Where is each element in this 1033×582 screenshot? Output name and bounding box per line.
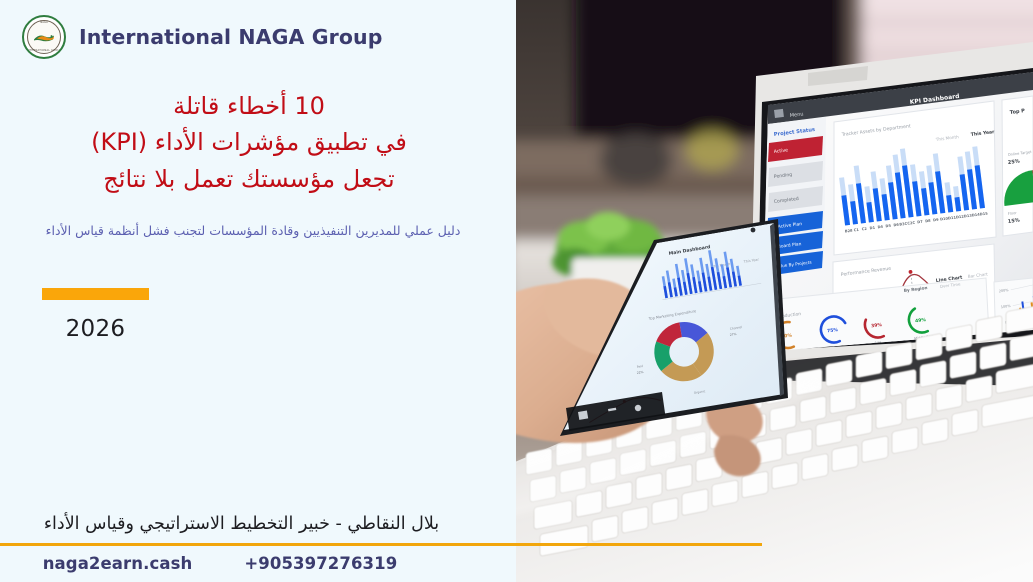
author-line: بلال النقاطي - خبير التخطيط الاستراتيجي … [0, 514, 483, 534]
svg-text:D5: D5 [885, 224, 891, 229]
year-label: 2026 [42, 316, 149, 342]
website-label[interactable]: naga2earn.cash [43, 554, 193, 573]
svg-text:D8: D8 [925, 219, 931, 224]
headline-line-2: في تطبيق مؤشرات الأداء (KPI) [0, 124, 498, 160]
headline-block: 10 أخطاء قاتلة في تطبيق مؤشرات الأداء (K… [0, 88, 498, 197]
footer-divider-rule [0, 543, 762, 546]
phone-label[interactable]: +905397276319 [244, 554, 397, 573]
svg-text:D7: D7 [917, 220, 923, 225]
subtitle-text: دليل عملي للمديرين التنفيذيين وقادة المؤ… [0, 222, 506, 240]
slide-canvas: NAGA INTERNATIONAL GROUP International N… [0, 0, 1033, 582]
svg-text:D4: D4 [877, 225, 883, 230]
svg-text:C2: C2 [861, 227, 867, 232]
hero-photo: Menu KPI Dashboard Project Status Active… [516, 0, 1033, 582]
svg-text:D1: D1 [869, 226, 875, 231]
brand-name-label: International NAGA Group [79, 25, 383, 49]
svg-text:C1: C1 [854, 228, 860, 233]
headline-line-1: 10 أخطاء قاتلة [0, 88, 498, 124]
left-content-panel: NAGA INTERNATIONAL GROUP International N… [0, 0, 516, 582]
accent-bar [42, 288, 149, 300]
svg-text:D9: D9 [933, 218, 939, 223]
naga-circular-emblem-icon: NAGA INTERNATIONAL GROUP [22, 15, 66, 59]
footer-contacts: naga2earn.cash +905397276319 [0, 554, 440, 573]
headline-line-3: تجعل مؤسستك تعمل بلا نتائج [0, 161, 498, 197]
brand-header: NAGA INTERNATIONAL GROUP International N… [22, 15, 383, 59]
